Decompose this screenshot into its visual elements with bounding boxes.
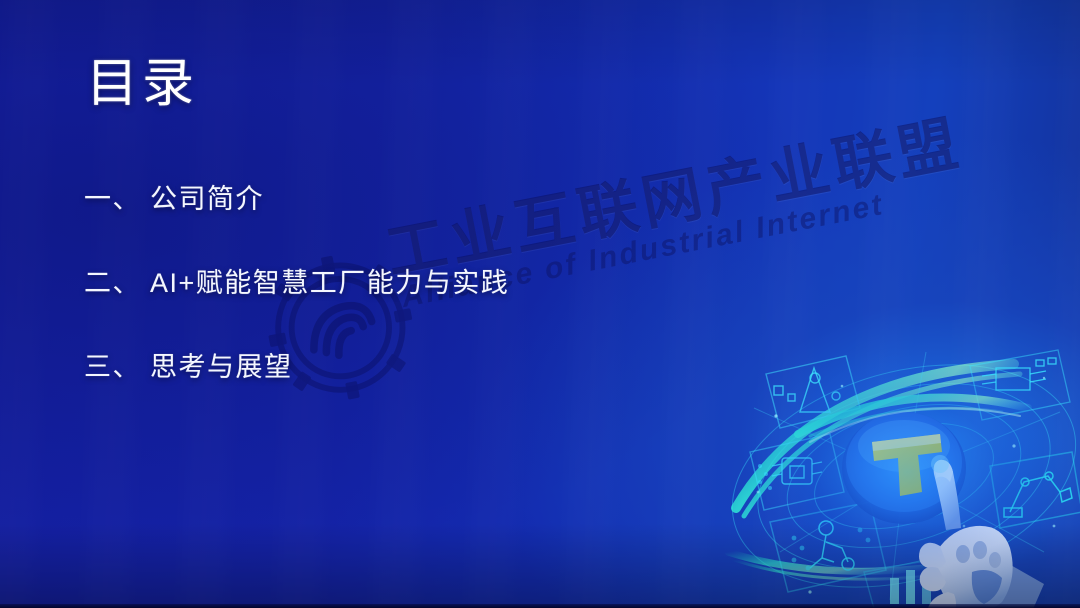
presentation-slide: 工业互联网产业联盟 Alliance of Industrial Interne…	[0, 0, 1080, 608]
toc-item-1[interactable]: 一、 公司简介	[84, 186, 864, 213]
page-title: 目录	[86, 58, 198, 110]
bottom-edge-line	[0, 604, 1080, 608]
toc-item-3[interactable]: 三、 思考与展望	[84, 354, 864, 381]
toc-item-2[interactable]: 二、 AI+赋能智慧工厂能力与实践	[84, 270, 864, 297]
table-of-contents: 一、 公司简介 二、 AI+赋能智慧工厂能力与实践 三、 思考与展望	[84, 186, 864, 381]
